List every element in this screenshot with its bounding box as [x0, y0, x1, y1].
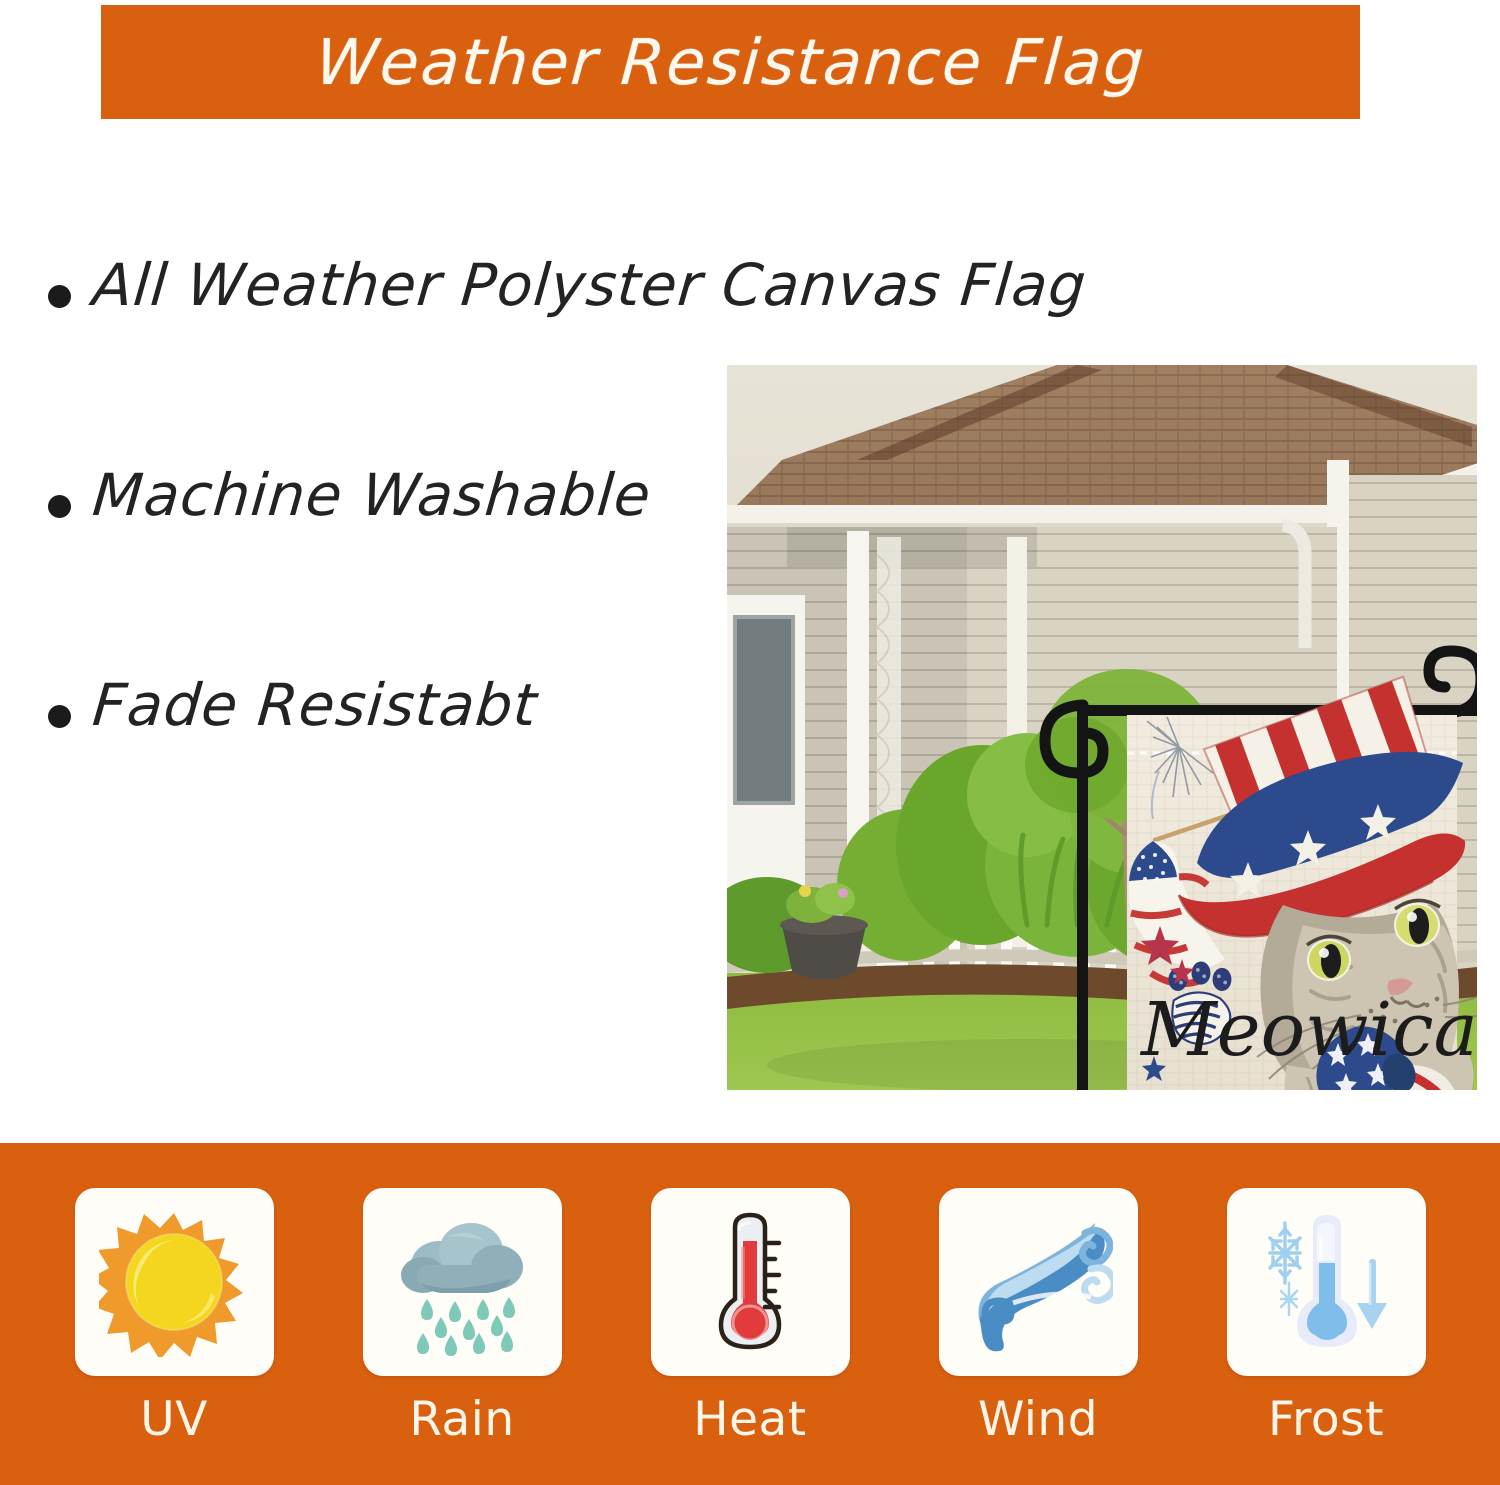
bullet-dot-icon	[48, 285, 71, 308]
weather-item-frost: Frost	[1224, 1188, 1429, 1443]
weather-item-heat: Heat	[648, 1188, 853, 1443]
weather-item-uv: UV	[72, 1188, 277, 1443]
weather-label-heat: Heat	[693, 1396, 807, 1443]
yard-scene-illustration: Meowica	[727, 365, 1477, 1090]
weather-label-wind: Wind	[978, 1396, 1098, 1443]
flag-text: Meowica	[1139, 987, 1477, 1073]
weather-item-rain: Rain	[360, 1188, 565, 1443]
bullet-dot-icon	[48, 705, 71, 728]
bullet-dot-icon	[48, 495, 71, 518]
weather-label-uv: UV	[140, 1396, 208, 1443]
feature-label: Fade Resistabt	[90, 675, 540, 736]
feature-label: Machine Washable	[90, 465, 653, 526]
product-photo: Meowica	[727, 365, 1477, 1090]
uv-icon-card	[75, 1188, 274, 1376]
page-title: Weather Resistance Flag	[313, 26, 1148, 99]
heat-icon-card	[651, 1188, 850, 1376]
sun-icon	[99, 1207, 249, 1357]
weather-resistance-bar: UV	[0, 1143, 1500, 1485]
weather-label-rain: Rain	[409, 1396, 514, 1443]
weather-label-frost: Frost	[1268, 1396, 1384, 1443]
feature-label: All Weather Polyster Canvas Flag	[90, 255, 1089, 316]
wind-icon-card	[939, 1188, 1138, 1376]
frost-thermometer-icon	[1251, 1207, 1401, 1357]
weather-item-wind: Wind	[936, 1188, 1141, 1443]
rain-cloud-icon	[387, 1207, 537, 1357]
frost-icon-card	[1227, 1188, 1426, 1376]
product-infographic: Weather Resistance Flag All Weather Poly…	[0, 0, 1500, 1485]
weather-icon-row: UV	[0, 1143, 1500, 1485]
wind-swirl-icon	[963, 1207, 1113, 1357]
rain-icon-card	[363, 1188, 562, 1376]
header-banner: Weather Resistance Flag	[101, 5, 1360, 119]
thermometer-hot-icon	[675, 1207, 825, 1357]
garden-flag: Meowica	[1127, 677, 1477, 1090]
